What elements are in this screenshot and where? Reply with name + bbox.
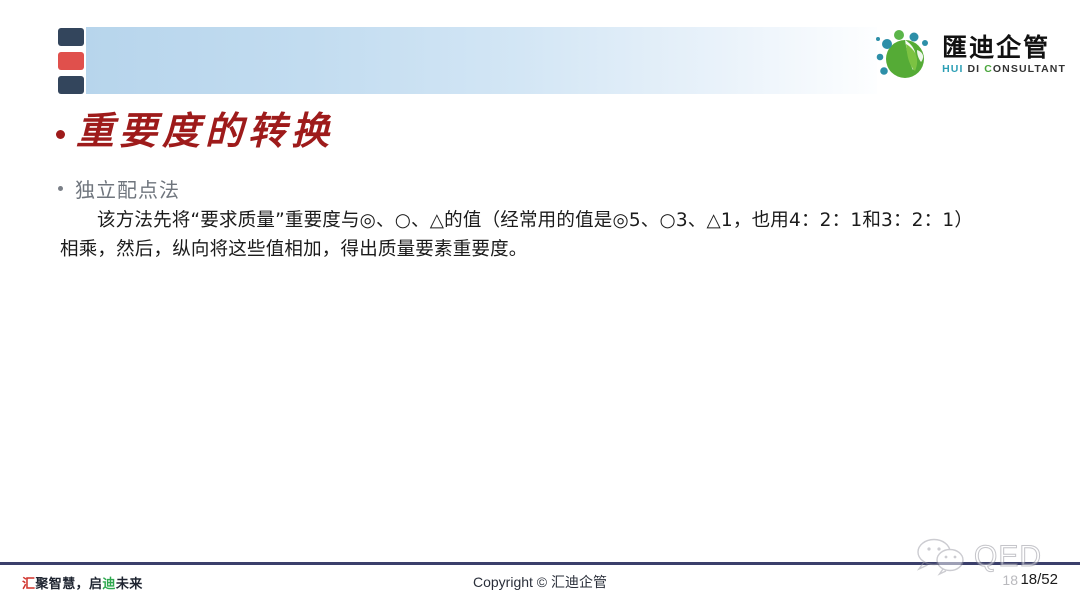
header-marks xyxy=(58,28,84,94)
header-gradient-bar xyxy=(86,27,877,94)
title-bullet-icon xyxy=(56,130,65,139)
page-subtitle: 独立配点法 xyxy=(75,174,180,203)
page-number-watermark: 18 xyxy=(1002,572,1018,588)
mark-navy-bottom xyxy=(58,76,84,94)
logo-en-part-di: DI xyxy=(968,63,985,75)
page-title: 重要度的转换 xyxy=(76,110,334,152)
page-number: 18/52 xyxy=(1020,571,1058,588)
watermark-qed-text: QED xyxy=(974,540,1042,574)
company-logo: 匯迪企管 HUI DI CONSULTANT xyxy=(875,24,1066,86)
logo-en-part-onsultant: ONSULTANT xyxy=(993,63,1066,75)
logo-en-part-hui: HUI xyxy=(942,63,967,75)
body-paragraph: 该方法先将“要求质量”重要度与◎、○、△的值（经常用的值是◎5、○3、△1，也用… xyxy=(60,206,990,264)
mark-navy-top xyxy=(58,28,84,46)
slide-canvas: 匯迪企管 HUI DI CONSULTANT 重要度的转换 独立配点法 该方法先… xyxy=(0,0,1080,607)
logo-en-part-c: C xyxy=(984,63,993,75)
wechat-icon xyxy=(912,538,982,576)
footer-copyright: Copyright © 汇迪企管 xyxy=(0,572,1080,592)
footer-divider xyxy=(0,562,1080,565)
logo-company-cn: 匯迪企管 xyxy=(942,35,1066,60)
slide-subtitle-row: 独立配点法 xyxy=(58,174,180,203)
logo-company-en: HUI DI CONSULTANT xyxy=(942,64,1066,75)
logo-text-block: 匯迪企管 HUI DI CONSULTANT xyxy=(942,35,1066,75)
subtitle-bullet-icon xyxy=(58,186,63,191)
mark-red-middle xyxy=(58,52,84,70)
slide-title-row: 重要度的转换 xyxy=(56,110,334,152)
huidi-leaf-logo-icon xyxy=(875,26,935,84)
